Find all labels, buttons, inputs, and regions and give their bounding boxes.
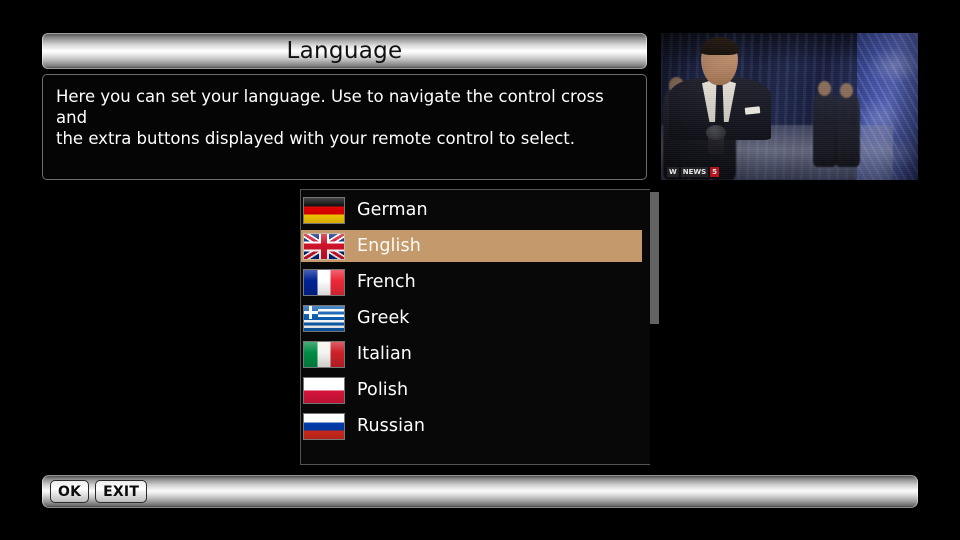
- preview-scanlines: [661, 33, 918, 180]
- softkey-bar: OKEXIT: [42, 475, 918, 508]
- title-bar: Language: [42, 33, 647, 69]
- language-item-label: German: [357, 201, 428, 219]
- language-item-label: Italian: [357, 345, 412, 363]
- watermark-segment-2: NEWS: [681, 167, 708, 177]
- language-item-german[interactable]: German: [301, 194, 642, 226]
- description-panel: Here you can set your language. Use to n…: [42, 74, 647, 180]
- watermark-segment-1: W: [667, 167, 679, 177]
- language-item-italian[interactable]: Italian: [301, 338, 642, 370]
- channel-watermark: W NEWS 5: [667, 166, 719, 177]
- language-item-label: Russian: [357, 417, 425, 435]
- page-title: Language: [287, 40, 403, 63]
- exit-button[interactable]: EXIT: [95, 480, 147, 503]
- flag-icon-gr: [304, 306, 344, 331]
- language-item-label: English: [357, 237, 421, 255]
- flag-cross-red: [304, 234, 344, 259]
- tv-settings-screen: Language Here you can set your language.…: [0, 0, 960, 540]
- flag-icon-ru: [304, 414, 344, 439]
- flag-icon-pl: [304, 378, 344, 403]
- language-list: GermanEnglishFrenchGreekItalianPolishRus…: [301, 194, 642, 446]
- language-item-polish[interactable]: Polish: [301, 374, 642, 406]
- language-item-russian[interactable]: Russian: [301, 410, 642, 442]
- flag-icon-fr: [304, 270, 344, 295]
- watermark-segment-3: 5: [710, 167, 719, 177]
- flag-icon-it: [304, 342, 344, 367]
- ok-button[interactable]: OK: [50, 480, 89, 503]
- live-tv-preview[interactable]: W NEWS 5: [661, 33, 918, 180]
- language-item-label: Polish: [357, 381, 408, 399]
- flag-icon-de: [304, 198, 344, 223]
- language-item-label: French: [357, 273, 416, 291]
- flag-cross-horizontal: [304, 311, 318, 314]
- language-item-french[interactable]: French: [301, 266, 642, 298]
- language-list-panel: GermanEnglishFrenchGreekItalianPolishRus…: [300, 189, 658, 465]
- language-item-english[interactable]: English: [301, 230, 642, 262]
- language-item-label: Greek: [357, 309, 410, 327]
- list-scrollbar-thumb[interactable]: [650, 192, 659, 324]
- description-text: Here you can set your language. Use to n…: [56, 86, 632, 149]
- language-item-greek[interactable]: Greek: [301, 302, 642, 334]
- flag-icon-gb: [304, 234, 344, 259]
